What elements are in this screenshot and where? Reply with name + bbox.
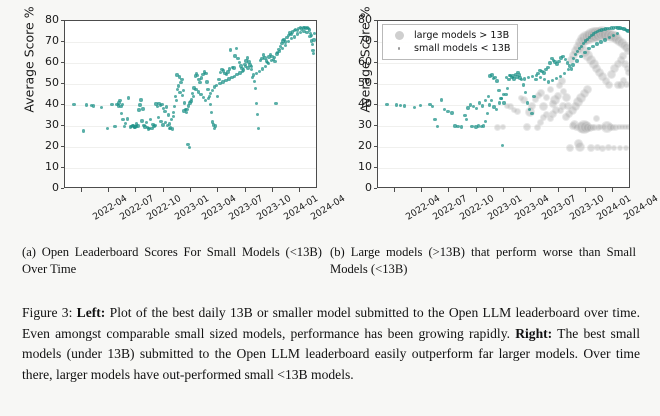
data-point-small-model xyxy=(522,83,525,86)
data-point-small-model xyxy=(106,127,109,130)
data-point-small-model xyxy=(531,75,534,78)
data-point-small-model xyxy=(210,111,213,114)
data-point-small-model xyxy=(227,77,230,80)
data-point-small-model xyxy=(495,79,498,82)
data-point-small-model xyxy=(267,62,270,65)
data-point-small-model xyxy=(253,80,256,83)
legend-small-dot-icon xyxy=(388,47,410,50)
data-point-small-model xyxy=(575,59,578,62)
x-tick-mark xyxy=(81,188,82,192)
data-point-large-model xyxy=(547,86,554,93)
data-point-large-model xyxy=(605,81,613,89)
y-tick-mark xyxy=(374,146,378,147)
data-point-small-model xyxy=(470,125,473,128)
data-point-large-model xyxy=(625,69,630,76)
data-point-small-model xyxy=(198,81,201,84)
y-tick-mark xyxy=(61,62,65,63)
data-point-small-model xyxy=(543,78,546,81)
data-point-small-model xyxy=(141,107,144,110)
data-point-large-model xyxy=(594,144,601,151)
data-point-small-model xyxy=(603,38,606,41)
data-point-small-model xyxy=(213,85,216,88)
data-point-small-model xyxy=(124,122,127,125)
data-point-large-model xyxy=(625,124,630,130)
x-tick-mark xyxy=(558,188,559,192)
y-tick-label: 60 xyxy=(33,57,59,67)
data-point-small-model xyxy=(419,104,422,107)
data-point-small-model xyxy=(185,108,188,111)
y-tick-mark xyxy=(61,41,65,42)
data-point-small-model xyxy=(273,56,276,59)
data-point-small-model xyxy=(138,103,141,106)
x-tick-mark xyxy=(135,188,136,192)
data-point-small-model xyxy=(313,32,316,35)
data-point-small-model xyxy=(523,77,526,80)
data-point-small-model xyxy=(290,37,293,40)
y-tick-label: 50 xyxy=(33,78,59,88)
y-tick-mark xyxy=(61,83,65,84)
data-point-small-model xyxy=(308,35,311,38)
data-point-small-model xyxy=(492,105,495,108)
y-tick-mark xyxy=(374,62,378,63)
data-point-small-model xyxy=(206,88,209,91)
chart-panel-a: Average Score % 010203040506070802022-04… xyxy=(0,0,330,236)
data-point-small-model xyxy=(110,103,113,106)
data-point-small-model xyxy=(546,66,549,69)
data-point-small-model xyxy=(224,79,227,82)
data-point-small-model xyxy=(254,87,257,90)
y-tick-mark xyxy=(374,83,378,84)
data-point-small-model xyxy=(180,78,183,81)
x-tick-mark xyxy=(245,188,246,192)
data-point-small-model xyxy=(506,87,509,90)
data-point-small-model xyxy=(200,76,203,79)
y-tick-mark xyxy=(61,20,65,21)
y-tick-mark xyxy=(61,125,65,126)
data-point-small-model xyxy=(515,75,518,78)
y-tick-mark xyxy=(61,146,65,147)
y-tick-label: 0 xyxy=(346,183,372,193)
y-tick-mark xyxy=(374,188,378,189)
data-point-small-model xyxy=(413,106,416,109)
data-point-small-model xyxy=(204,99,207,102)
data-point-small-model xyxy=(547,80,550,83)
data-point-small-model xyxy=(113,125,116,128)
data-point-small-model xyxy=(487,95,490,98)
data-point-small-model xyxy=(431,105,434,108)
data-point-large-model xyxy=(566,144,574,152)
data-point-small-model xyxy=(127,96,130,99)
data-point-small-model xyxy=(535,74,538,77)
data-point-small-model xyxy=(511,74,514,77)
data-point-small-model xyxy=(236,57,239,60)
data-point-small-model xyxy=(100,106,103,109)
data-point-small-model xyxy=(311,43,314,46)
data-point-small-model xyxy=(484,99,487,102)
data-point-small-model xyxy=(284,44,287,47)
data-point-small-model xyxy=(440,98,443,101)
gridline xyxy=(65,63,316,64)
data-point-small-model xyxy=(182,89,185,92)
x-tick-mark xyxy=(448,188,449,192)
data-point-small-model xyxy=(524,91,527,94)
data-point-small-model xyxy=(395,103,398,106)
data-point-small-model xyxy=(305,31,308,34)
y-tick-label: 20 xyxy=(346,141,372,151)
data-point-small-model xyxy=(463,114,466,117)
data-point-small-model xyxy=(174,95,177,98)
data-point-small-model xyxy=(165,105,168,108)
data-point-small-model xyxy=(171,127,174,130)
data-point-small-model xyxy=(484,120,487,123)
x-tick-mark xyxy=(108,188,109,192)
data-point-small-model xyxy=(498,101,501,104)
data-point-large-model xyxy=(514,108,521,115)
data-point-small-model xyxy=(480,125,483,128)
gridline xyxy=(65,42,316,43)
figure-row: Average Score % 010203040506070802022-04… xyxy=(0,0,660,236)
data-point-small-model xyxy=(178,91,181,94)
data-point-small-model xyxy=(490,99,493,102)
x-tick-mark xyxy=(476,188,477,192)
data-point-small-model xyxy=(534,78,537,81)
y-tick-label: 0 xyxy=(33,183,59,193)
data-point-small-model xyxy=(126,117,129,120)
x-tick-mark xyxy=(612,188,613,192)
data-point-small-model xyxy=(194,88,197,91)
data-point-small-model xyxy=(216,95,219,98)
data-point-small-model xyxy=(612,34,615,37)
data-point-small-model xyxy=(595,42,598,45)
data-point-large-model xyxy=(562,93,571,102)
x-tick-mark xyxy=(585,188,586,192)
data-point-small-model xyxy=(486,112,489,115)
data-point-small-model xyxy=(563,72,566,75)
y-tick-mark xyxy=(374,125,378,126)
data-point-small-model xyxy=(149,118,152,121)
data-point-small-model xyxy=(173,105,176,108)
data-point-small-model xyxy=(246,66,249,69)
data-point-small-model xyxy=(557,60,560,63)
subcaptions: (a) Open Leaderboard Scores For Small Mo… xyxy=(0,244,660,294)
x-tick-mark xyxy=(394,188,395,192)
x-tick-mark xyxy=(299,188,300,192)
legend-entry-large: large models > 13B xyxy=(388,29,510,42)
data-point-small-model xyxy=(256,113,259,116)
data-point-large-model xyxy=(623,81,630,88)
data-point-small-model xyxy=(481,104,484,107)
data-point-small-model xyxy=(218,82,221,85)
data-point-small-model xyxy=(119,105,122,108)
x-tick-mark xyxy=(272,188,273,192)
data-point-small-model xyxy=(205,80,208,83)
data-point-small-model xyxy=(261,67,264,70)
data-point-small-model xyxy=(230,76,233,79)
data-point-small-model xyxy=(82,129,85,132)
data-point-small-model xyxy=(170,118,173,121)
data-point-small-model xyxy=(140,119,143,122)
data-point-small-model xyxy=(275,52,278,55)
data-point-small-model xyxy=(139,98,142,101)
data-point-small-model xyxy=(551,79,554,82)
data-point-small-model xyxy=(310,39,313,42)
data-point-small-model xyxy=(433,118,436,121)
data-point-large-model xyxy=(623,145,629,151)
y-tick-label: 80 xyxy=(346,15,372,25)
axes-area-a xyxy=(64,20,317,188)
data-point-small-model xyxy=(197,90,200,93)
data-point-small-model xyxy=(583,51,586,54)
data-point-small-model xyxy=(255,72,258,75)
data-point-small-model xyxy=(238,71,241,74)
data-point-large-model xyxy=(617,145,623,151)
data-point-small-model xyxy=(450,111,453,114)
data-point-small-model xyxy=(466,106,469,109)
x-tick-mark xyxy=(421,188,422,192)
data-point-large-model xyxy=(534,124,541,131)
data-point-small-model xyxy=(488,103,491,106)
data-point-small-model xyxy=(172,111,175,114)
y-tick-label: 50 xyxy=(346,78,372,88)
data-point-small-model xyxy=(129,125,132,128)
data-point-small-model xyxy=(460,125,463,128)
y-tick-mark xyxy=(61,104,65,105)
data-point-small-model xyxy=(235,47,238,50)
data-point-small-model xyxy=(167,113,170,116)
data-point-small-model xyxy=(518,76,521,79)
data-point-small-model xyxy=(548,61,551,64)
data-point-small-model xyxy=(527,76,530,79)
y-tick-label: 10 xyxy=(346,162,372,172)
data-point-small-model xyxy=(474,125,477,128)
y-tick-label: 70 xyxy=(33,36,59,46)
data-point-small-model xyxy=(229,48,232,51)
data-point-small-model xyxy=(92,104,95,107)
data-point-small-model xyxy=(207,97,210,100)
legend-large-circle-icon xyxy=(388,31,410,40)
data-point-small-model xyxy=(181,94,184,97)
data-point-small-model xyxy=(539,76,542,79)
data-point-large-model xyxy=(575,142,585,152)
data-point-small-model xyxy=(403,104,406,107)
data-point-small-model xyxy=(302,30,305,33)
plot-b: Average Score % 010203040506070802022-04… xyxy=(330,0,660,236)
y-tick-label: 30 xyxy=(33,120,59,130)
data-point-large-model xyxy=(593,115,600,122)
data-point-small-model xyxy=(599,40,602,43)
data-point-small-model xyxy=(250,68,253,71)
y-tick-label: 40 xyxy=(346,99,372,109)
data-point-small-model xyxy=(542,71,545,74)
data-point-small-model xyxy=(209,92,212,95)
data-point-small-model xyxy=(264,65,267,68)
data-point-small-model xyxy=(161,123,164,126)
x-tick-mark xyxy=(190,188,191,192)
data-point-large-model xyxy=(500,124,506,130)
y-tick-label: 70 xyxy=(346,36,372,46)
data-point-small-model xyxy=(137,108,140,111)
data-point-small-model xyxy=(232,66,235,69)
y-tick-label: 80 xyxy=(33,15,59,25)
data-point-small-model xyxy=(500,97,503,100)
data-point-small-model xyxy=(532,95,535,98)
data-point-small-model xyxy=(570,67,573,70)
data-point-small-model xyxy=(274,102,277,105)
legend-label-small: small models < 13B xyxy=(410,42,510,55)
y-tick-mark xyxy=(374,41,378,42)
data-point-small-model xyxy=(530,112,533,115)
gridline xyxy=(378,84,629,85)
data-point-small-model xyxy=(399,104,402,107)
y-tick-mark xyxy=(61,188,65,189)
data-point-small-model xyxy=(183,101,186,104)
y-tick-label: 60 xyxy=(346,57,372,67)
data-point-small-model xyxy=(85,103,88,106)
data-point-small-model xyxy=(121,118,124,121)
y-tick-label: 30 xyxy=(346,120,372,130)
caption-bold-run: Left: xyxy=(77,305,106,320)
y-tick-mark xyxy=(374,167,378,168)
data-point-small-model xyxy=(465,118,468,121)
plot-a: Average Score % 010203040506070802022-04… xyxy=(0,0,330,236)
data-point-large-model xyxy=(558,77,566,85)
data-point-small-model xyxy=(226,70,229,73)
y-tick-mark xyxy=(374,104,378,105)
legend-entry-small: small models < 13B xyxy=(388,42,510,55)
subcaption-a: (a) Open Leaderboard Scores For Small Mo… xyxy=(22,244,322,278)
data-point-small-model xyxy=(579,55,582,58)
data-point-small-model xyxy=(446,110,449,113)
data-point-small-model xyxy=(257,127,260,130)
data-point-small-model xyxy=(258,70,261,73)
data-point-small-model xyxy=(196,74,199,77)
data-point-small-model xyxy=(252,73,255,76)
data-point-small-model xyxy=(120,112,123,115)
x-tick-mark xyxy=(163,188,164,192)
data-point-small-model xyxy=(626,29,629,32)
data-point-small-model xyxy=(293,35,296,38)
data-point-large-model xyxy=(583,85,592,94)
data-point-small-model xyxy=(502,101,505,104)
data-point-small-model xyxy=(436,125,439,128)
data-point-small-model xyxy=(281,47,284,50)
subcaption-b: (b) Large models (>13B) that perform wor… xyxy=(330,244,636,278)
y-tick-label: 20 xyxy=(33,141,59,151)
data-point-small-model xyxy=(123,125,126,128)
data-point-small-model xyxy=(117,101,120,104)
data-point-small-model xyxy=(475,107,478,110)
y-tick-mark xyxy=(374,20,378,21)
data-point-small-model xyxy=(157,116,160,119)
x-tick-mark xyxy=(217,188,218,192)
data-point-small-model xyxy=(214,124,217,127)
gridline xyxy=(65,84,316,85)
gridline xyxy=(65,126,316,127)
data-point-small-model xyxy=(312,52,315,55)
caption-bold-run: Right: xyxy=(515,326,552,341)
figure-page: Average Score % 010203040506070802022-04… xyxy=(0,0,660,416)
gridline xyxy=(65,168,316,169)
data-point-small-model xyxy=(160,103,163,106)
x-tick-mark xyxy=(530,188,531,192)
figure-caption: Figure 3: Left: Plot of the best daily 1… xyxy=(22,303,640,385)
y-tick-label: 40 xyxy=(33,99,59,109)
data-point-small-model xyxy=(225,73,228,76)
data-point-small-model xyxy=(221,80,224,83)
data-point-small-model xyxy=(497,89,500,92)
gridline xyxy=(378,168,629,169)
y-tick-label: 10 xyxy=(33,162,59,172)
data-point-small-model xyxy=(199,93,202,96)
data-point-small-model xyxy=(296,32,299,35)
legend-label-large: large models > 13B xyxy=(410,29,509,42)
x-tick-mark xyxy=(503,188,504,192)
data-point-small-model xyxy=(175,99,178,102)
data-point-small-model xyxy=(217,78,220,81)
data-point-small-model xyxy=(182,109,185,112)
data-point-large-model xyxy=(557,107,564,114)
data-point-small-model xyxy=(591,45,594,48)
caption-run: Figure 3: xyxy=(22,305,77,320)
data-point-large-model xyxy=(539,102,548,111)
data-point-small-model xyxy=(571,63,574,66)
data-point-small-model xyxy=(188,146,191,149)
y-tick-mark xyxy=(61,167,65,168)
chart-panel-b: Average Score % 010203040506070802022-04… xyxy=(330,0,660,236)
chart-legend: large models > 13B small models < 13B xyxy=(382,24,518,60)
data-point-small-model xyxy=(204,72,207,75)
data-point-large-model xyxy=(619,52,627,60)
data-point-large-model xyxy=(523,123,531,131)
